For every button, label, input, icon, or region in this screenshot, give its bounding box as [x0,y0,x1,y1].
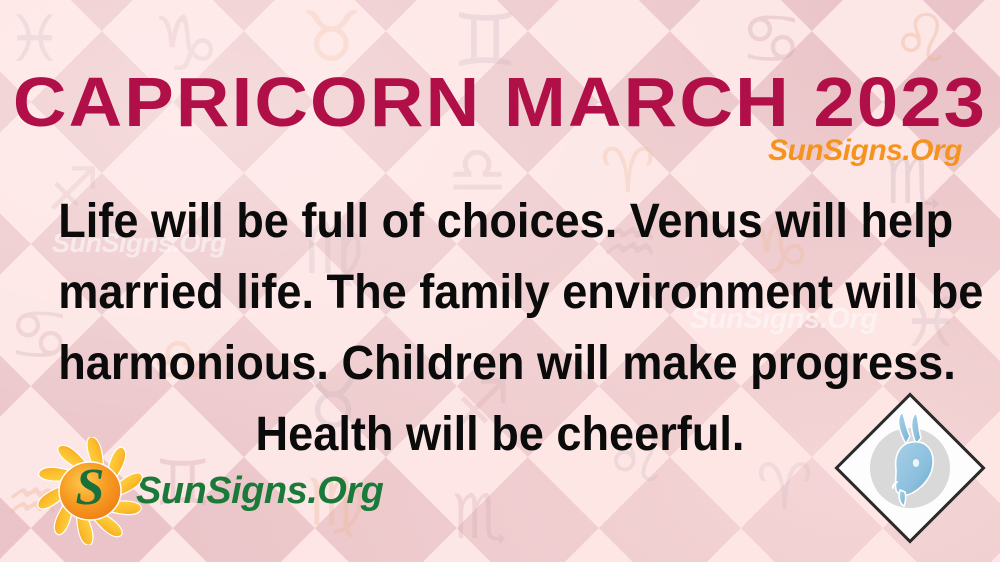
body-line: Life will be full of choices. Venus will… [58,186,942,257]
horoscope-poster: ♓♑♉♊♋♌♎♈♏♐♍♒♑♓♋♎♉♐♌♊♍♏♈♒ CAPRICORN MARCH… [0,0,1000,562]
svg-text:S: S [76,459,105,516]
body-line: married life. The family environment wil… [58,257,942,328]
horoscope-body-text: Life will be full of choices. Venus will… [58,186,942,470]
page-title: CAPRICORN MARCH 2023 [0,62,1000,142]
capricorn-badge [834,392,986,544]
brand-name-text: SunSigns.Org [136,470,383,513]
site-logo[interactable]: S SunSigns.Org [36,436,383,546]
body-line: harmonious. Children will make progress. [58,328,942,399]
brand-watermark-top: SunSigns.Org [768,134,962,168]
sun-icon: S [36,437,144,545]
